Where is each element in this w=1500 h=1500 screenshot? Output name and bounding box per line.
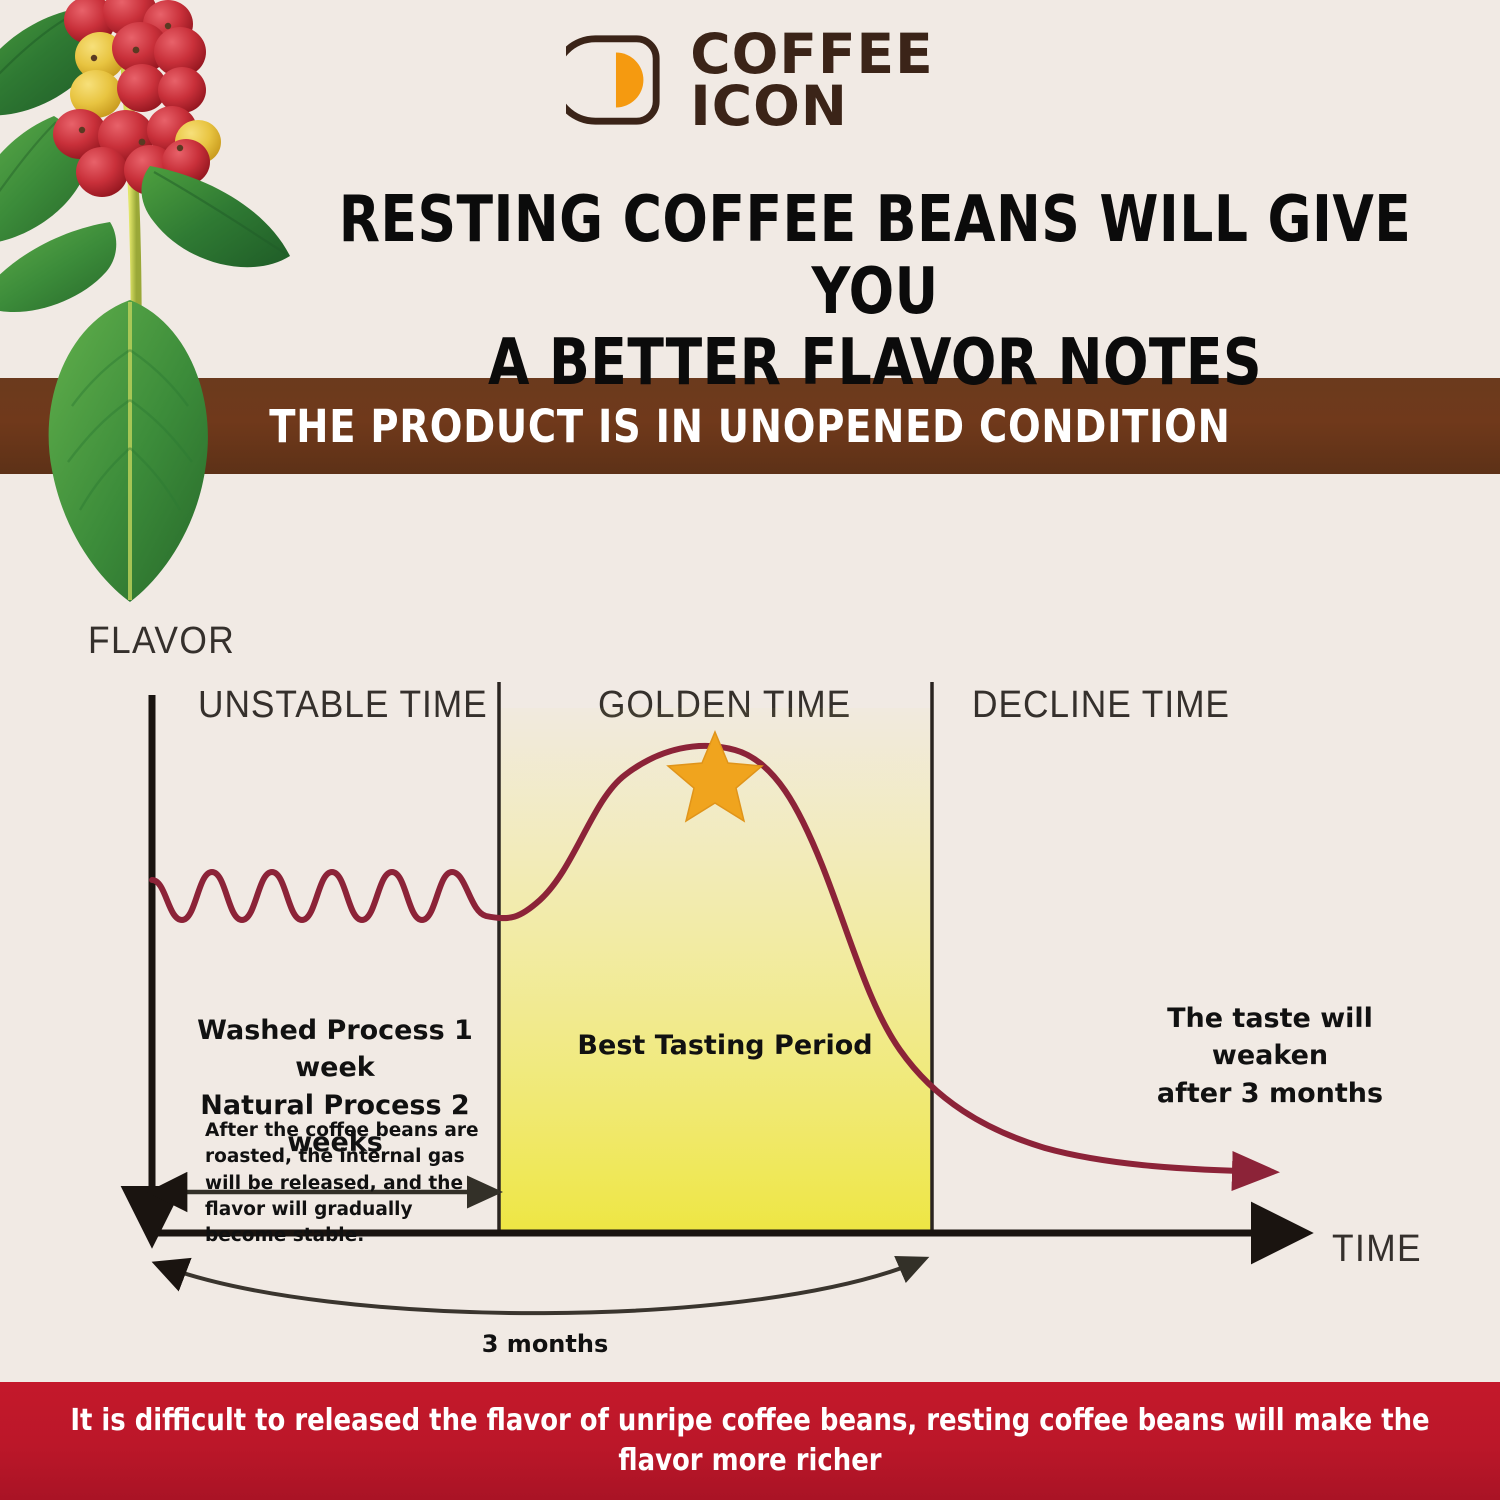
x-axis-label: TIME	[1332, 1228, 1422, 1271]
annotation-degassing-note: After the coffee beans are roasted, the …	[205, 1118, 485, 1249]
annotation-taste-weaken-line2: after 3 months	[1110, 1075, 1430, 1112]
three-months-span-arrow	[160, 1260, 922, 1313]
page-title-line2: A BETTER FLAVOR NOTES	[294, 328, 1457, 400]
condition-banner-text: THE PRODUCT IS IN UNOPENED CONDITION	[269, 400, 1230, 453]
annotation-washed-process: Washed Process 1 week	[160, 1012, 510, 1087]
brand-name-line2: ICON	[690, 80, 933, 132]
coffee-bean-square-icon	[566, 31, 664, 129]
brand-logo: COFFEE ICON	[0, 28, 1500, 133]
footer-banner: It is difficult to released the flavor o…	[0, 1382, 1500, 1500]
brand-name: COFFEE ICON	[690, 28, 933, 133]
annotation-taste-weaken: The taste will weaken after 3 months	[1110, 1000, 1430, 1112]
page-title-line1: RESTING COFFEE BEANS WILL GIVE YOU	[294, 185, 1457, 328]
annotation-taste-weaken-line1: The taste will weaken	[1110, 1000, 1430, 1075]
annotation-three-months: 3 months	[370, 1330, 720, 1358]
footer-banner-text: It is difficult to released the flavor o…	[59, 1401, 1441, 1480]
page-title: RESTING COFFEE BEANS WILL GIVE YOU A BET…	[294, 185, 1457, 400]
brand-name-line1: COFFEE	[690, 28, 933, 80]
annotation-best-tasting-period: Best Tasting Period	[560, 1030, 890, 1061]
